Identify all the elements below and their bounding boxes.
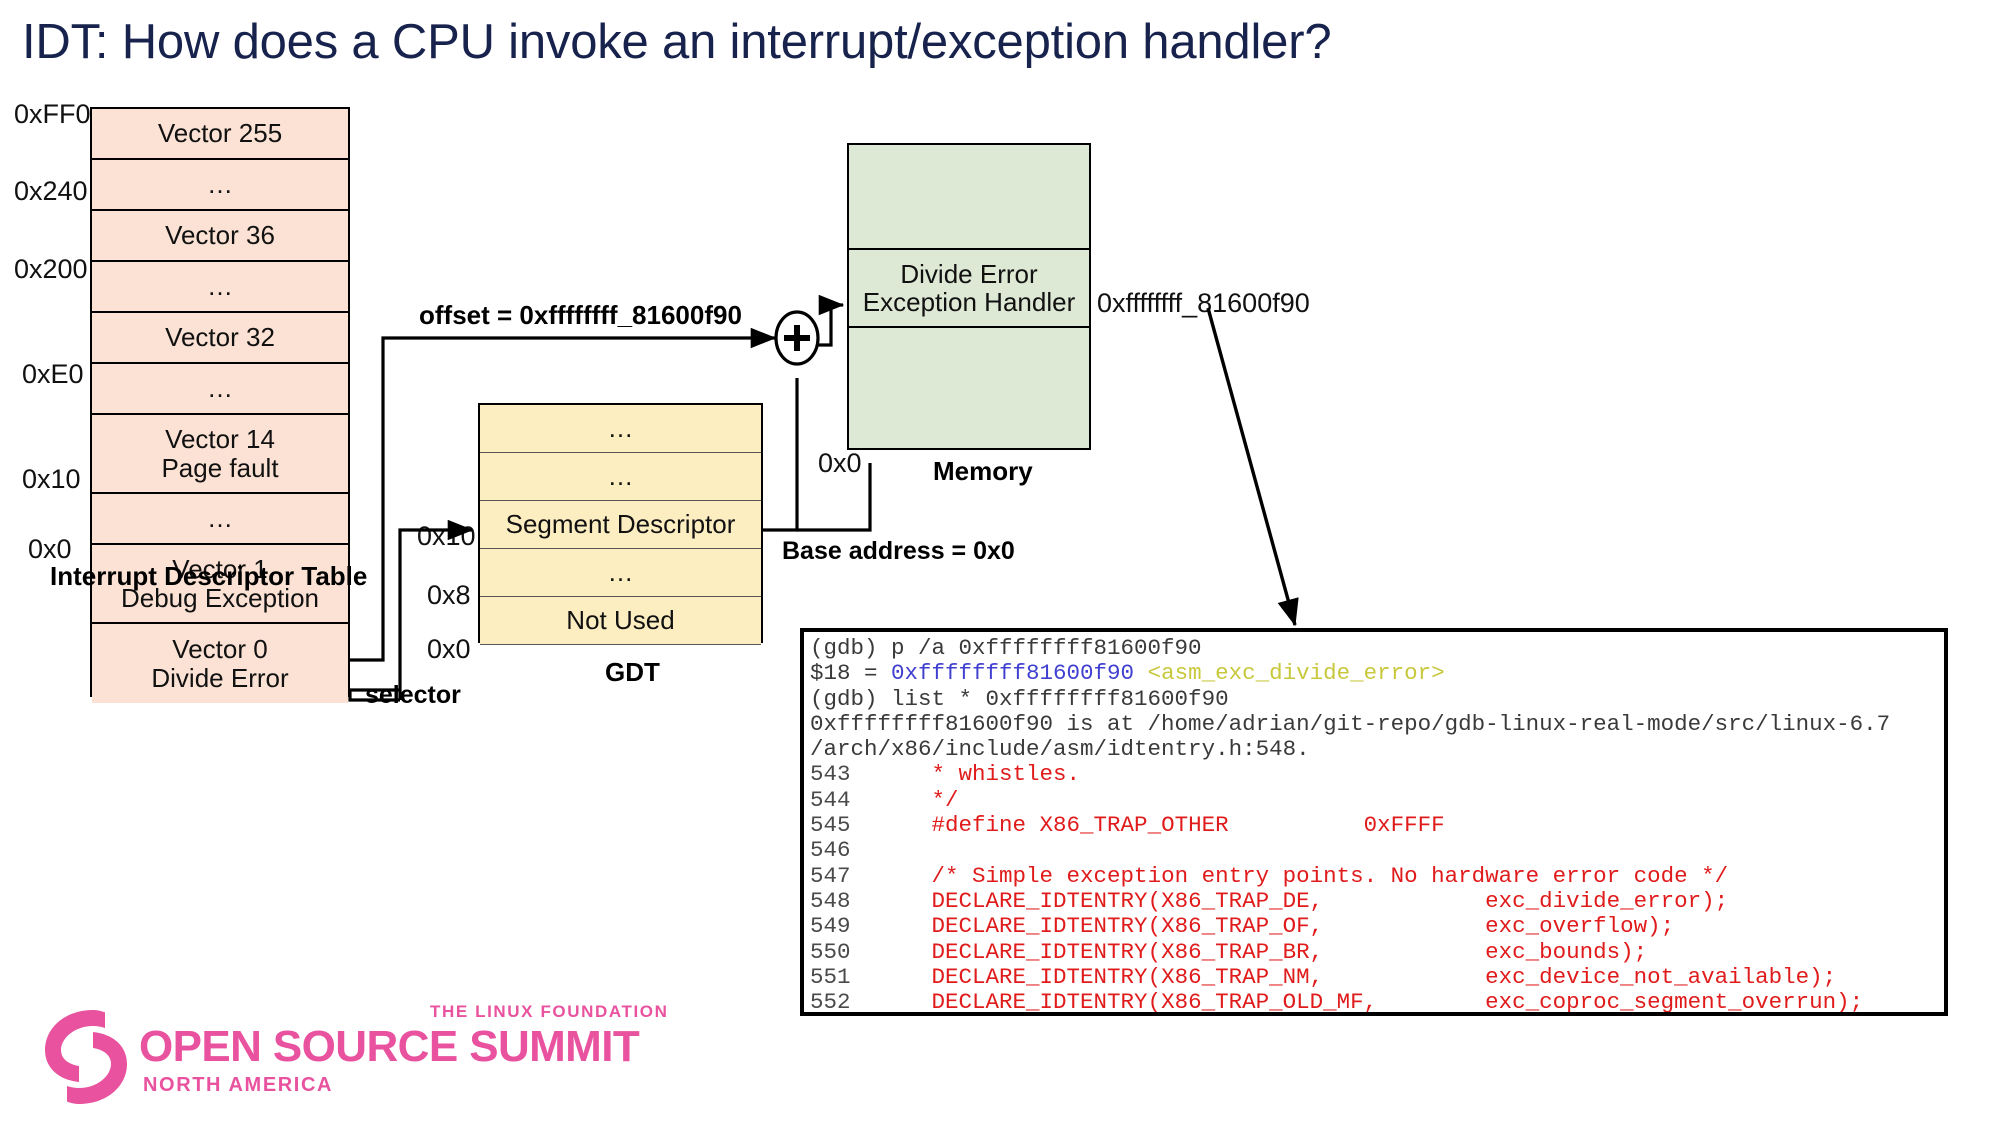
gdb-line-segment: (gdb) list * 0xffffffff81600f90 xyxy=(810,686,1229,712)
gdb-line-segment: 543 xyxy=(810,761,851,787)
wire-address-to-gdb xyxy=(1208,308,1295,625)
gdb-line: (gdb) list * 0xffffffff81600f90 xyxy=(810,687,1944,712)
gdb-line: 546 xyxy=(810,838,1944,863)
gdb-line-segment: 550 xyxy=(810,939,851,965)
gdb-line-segment: DECLARE_IDTENTRY(X86_TRAP_DE, exc_divide… xyxy=(851,888,1729,914)
gdb-line-segment: 549 xyxy=(810,913,851,939)
gdb-line-segment: 546 xyxy=(810,837,851,863)
gdb-line: 550 DECLARE_IDTENTRY(X86_TRAP_BR, exc_bo… xyxy=(810,940,1944,965)
gdb-terminal-output: (gdb) p /a 0xffffffff81600f90$18 = 0xfff… xyxy=(800,628,1948,1016)
gdb-line: 543 * whistles. xyxy=(810,762,1944,787)
slide-root: IDT: How does a CPU invoke an interrupt/… xyxy=(0,0,2000,1125)
gdb-line-segment: <asm_exc_divide_error> xyxy=(1148,660,1445,686)
gdb-line-segment: 552 xyxy=(810,989,851,1015)
oss-logo-mark-icon xyxy=(35,1002,135,1112)
wire-memory-base xyxy=(797,463,870,530)
gdb-line-segment: * whistles. xyxy=(851,761,1081,787)
adder-node xyxy=(776,312,818,364)
gdb-line: /arch/x86/include/asm/idtentry.h:548. xyxy=(810,737,1944,762)
gdb-line-segment: /* Simple exception entry points. No har… xyxy=(851,863,1729,889)
gdb-line-segment: 548 xyxy=(810,888,851,914)
open-source-summit-logo: THE LINUX FOUNDATION OPEN SOURCE SUMMIT … xyxy=(35,1000,635,1115)
gdb-line: 552 DECLARE_IDTENTRY(X86_TRAP_OLD_MF, ex… xyxy=(810,990,1944,1015)
gdb-line-segment: DECLARE_IDTENTRY(X86_TRAP_BR, exc_bounds… xyxy=(851,939,1648,965)
gdb-line-segment: (gdb) p /a 0xffffffff81600f90 xyxy=(810,635,1202,661)
gdb-line: 549 DECLARE_IDTENTRY(X86_TRAP_OF, exc_ov… xyxy=(810,914,1944,939)
gdb-line: $18 = 0xffffffff81600f90 <asm_exc_divide… xyxy=(810,661,1944,686)
gdb-line-segment: DECLARE_IDTENTRY(X86_TRAP_NM, exc_device… xyxy=(851,964,1837,990)
gdb-line-segment: 544 xyxy=(810,787,851,813)
gdb-line-segment: $18 = xyxy=(810,660,891,686)
gdb-line-segment: 0xffffffff81600f90 xyxy=(891,660,1134,686)
gdb-line: 0xffffffff81600f90 is at /home/adrian/gi… xyxy=(810,712,1944,737)
gdb-line-segment: DECLARE_IDTENTRY(X86_TRAP_OLD_MF, exc_co… xyxy=(851,989,1864,1015)
gdb-line-segment: /arch/x86/include/asm/idtentry.h:548. xyxy=(810,736,1310,762)
gdb-line: 548 DECLARE_IDTENTRY(X86_TRAP_DE, exc_di… xyxy=(810,889,1944,914)
gdb-line-segment: #define X86_TRAP_OTHER 0xFFFF xyxy=(851,812,1445,838)
gdb-line-segment xyxy=(1134,660,1148,686)
wire-selector-to-gdt xyxy=(350,530,472,700)
gdb-line-segment: 545 xyxy=(810,812,851,838)
logo-region: NORTH AMERICA xyxy=(143,1074,333,1097)
gdb-line: 544 */ xyxy=(810,788,1944,813)
gdb-line-segment: DECLARE_IDTENTRY(X86_TRAP_OF, exc_overfl… xyxy=(851,913,1675,939)
gdb-line: (gdb) p /a 0xffffffff81600f90 xyxy=(810,636,1944,661)
wire-adder-to-memory xyxy=(818,305,843,345)
gdb-line-segment: 0xffffffff81600f90 is at /home/adrian/gi… xyxy=(810,711,1890,737)
wire-gdt-to-adder xyxy=(763,378,797,530)
gdb-line-segment: 547 xyxy=(810,863,851,889)
gdb-line-segment: 551 xyxy=(810,964,851,990)
logo-tagline: THE LINUX FOUNDATION xyxy=(430,1002,669,1022)
gdb-line: 547 /* Simple exception entry points. No… xyxy=(810,864,1944,889)
wire-idt-to-adder xyxy=(350,338,775,660)
logo-name: OPEN SOURCE SUMMIT xyxy=(139,1022,639,1072)
gdb-line-segment: */ xyxy=(851,787,959,813)
gdb-line: 551 DECLARE_IDTENTRY(X86_TRAP_NM, exc_de… xyxy=(810,965,1944,990)
gdb-line: 545 #define X86_TRAP_OTHER 0xFFFF xyxy=(810,813,1944,838)
